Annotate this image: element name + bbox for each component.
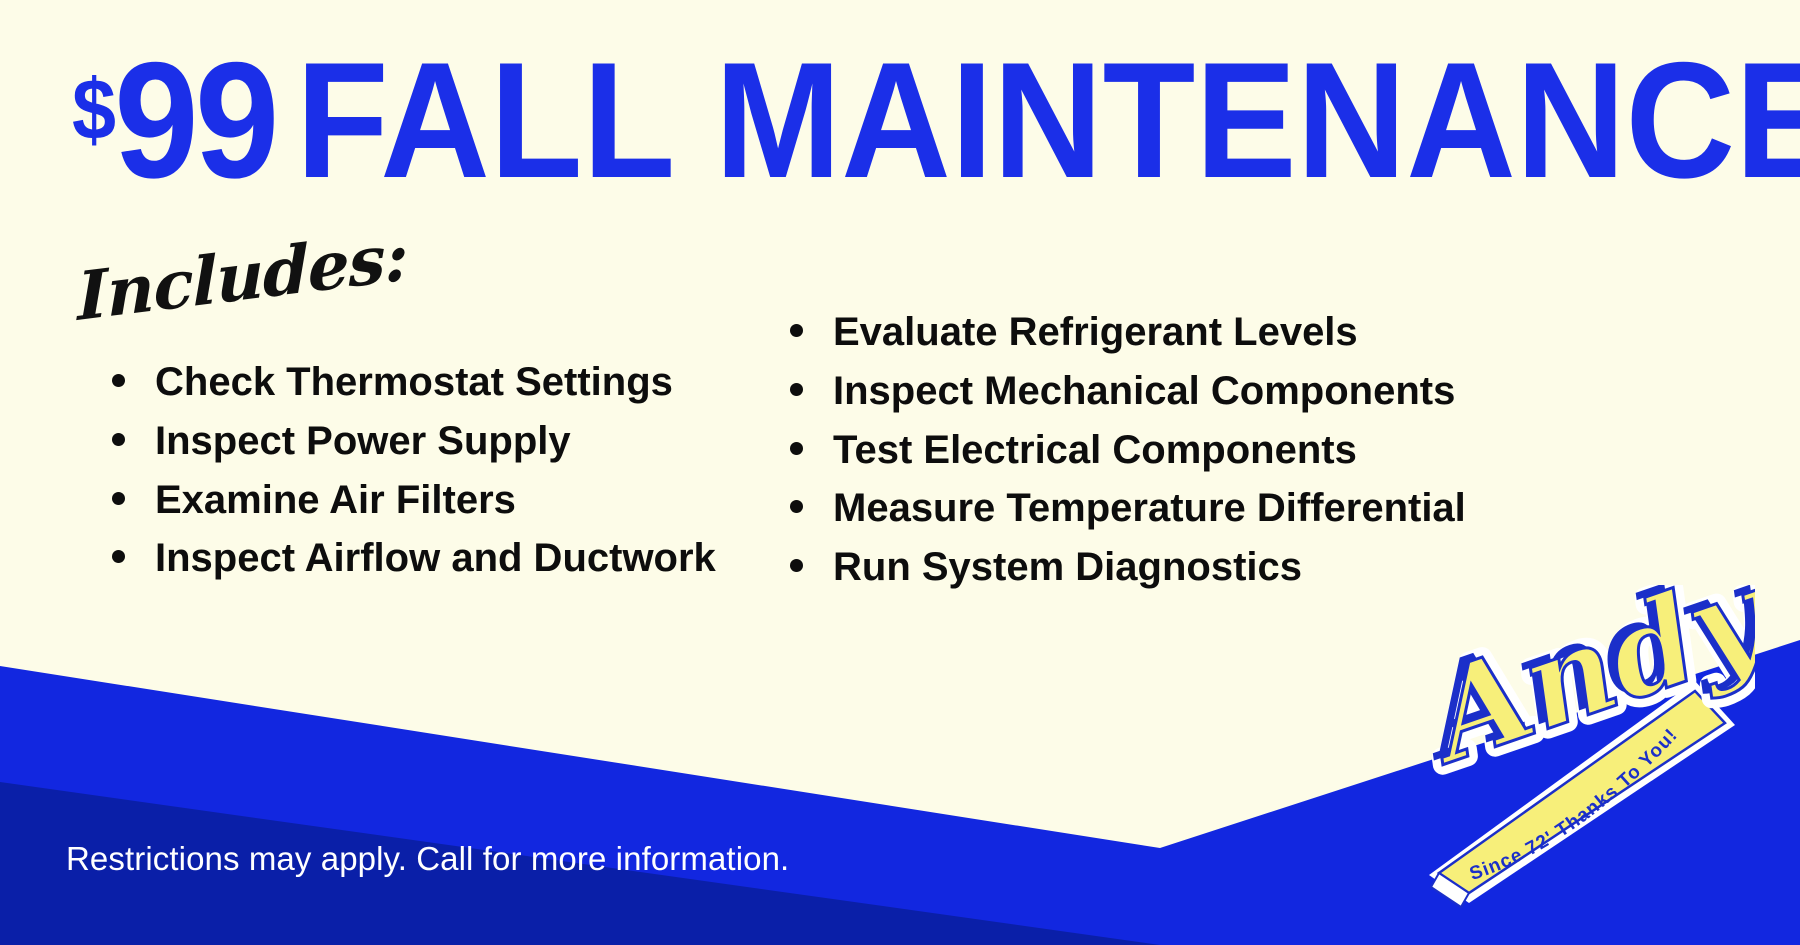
list-item-label: Test Electrical Components — [833, 426, 1357, 475]
currency-symbol: $ — [72, 62, 114, 158]
bullet-dot-icon — [790, 383, 803, 396]
list-item-label: Inspect Mechanical Components — [833, 367, 1455, 416]
list-item: Measure Temperature Differential — [790, 484, 1466, 533]
right-bullet-list: Evaluate Refrigerant Levels Inspect Mech… — [790, 308, 1466, 592]
left-bullet-list: Check Thermostat Settings Inspect Power … — [112, 358, 716, 583]
bullet-dot-icon — [112, 374, 125, 387]
list-item-label: Run System Diagnostics — [833, 543, 1302, 592]
wordmark-face: Andy's — [1405, 585, 1755, 792]
bullet-dot-icon — [112, 433, 125, 446]
list-item: Test Electrical Components — [790, 426, 1466, 475]
andys-logo: Since 72' Thanks To You! Andy's Andy's A… — [1395, 585, 1755, 915]
right-bullet-column: Evaluate Refrigerant Levels Inspect Mech… — [790, 308, 1466, 602]
logo-wordmark: Andy's Andy's Andy's — [1396, 585, 1755, 795]
headline-word: FALL MAINTENANCE — [296, 28, 1800, 212]
promotional-banner: $99FALL MAINTENANCE Includes: Check Ther… — [0, 0, 1800, 945]
list-item: Run System Diagnostics — [790, 543, 1466, 592]
list-item-label: Evaluate Refrigerant Levels — [833, 308, 1358, 357]
list-item-label: Inspect Power Supply — [155, 417, 571, 466]
bullet-dot-icon — [790, 442, 803, 455]
bullet-dot-icon — [112, 492, 125, 505]
list-item: Check Thermostat Settings — [112, 358, 716, 407]
andys-logo-graphic: Since 72' Thanks To You! Andy's Andy's A… — [1395, 585, 1755, 915]
list-item: Evaluate Refrigerant Levels — [790, 308, 1466, 357]
list-item: Inspect Airflow and Ductwork — [112, 534, 716, 583]
list-item-label: Measure Temperature Differential — [833, 484, 1466, 533]
bullet-dot-icon — [790, 500, 803, 513]
bullet-dot-icon — [790, 559, 803, 572]
disclaimer-text: Restrictions may apply. Call for more in… — [66, 840, 789, 878]
headline: $99FALL MAINTENANCE — [72, 38, 1728, 203]
list-item-label: Examine Air Filters — [155, 476, 516, 525]
list-item: Inspect Mechanical Components — [790, 367, 1466, 416]
bullet-dot-icon — [112, 550, 125, 563]
list-item: Examine Air Filters — [112, 476, 716, 525]
left-bullet-column: Check Thermostat Settings Inspect Power … — [112, 358, 716, 593]
list-item: Inspect Power Supply — [112, 417, 716, 466]
price-amount: 99 — [114, 28, 275, 212]
list-item-label: Check Thermostat Settings — [155, 358, 673, 407]
list-item-label: Inspect Airflow and Ductwork — [155, 534, 716, 583]
bullet-dot-icon — [790, 324, 803, 337]
